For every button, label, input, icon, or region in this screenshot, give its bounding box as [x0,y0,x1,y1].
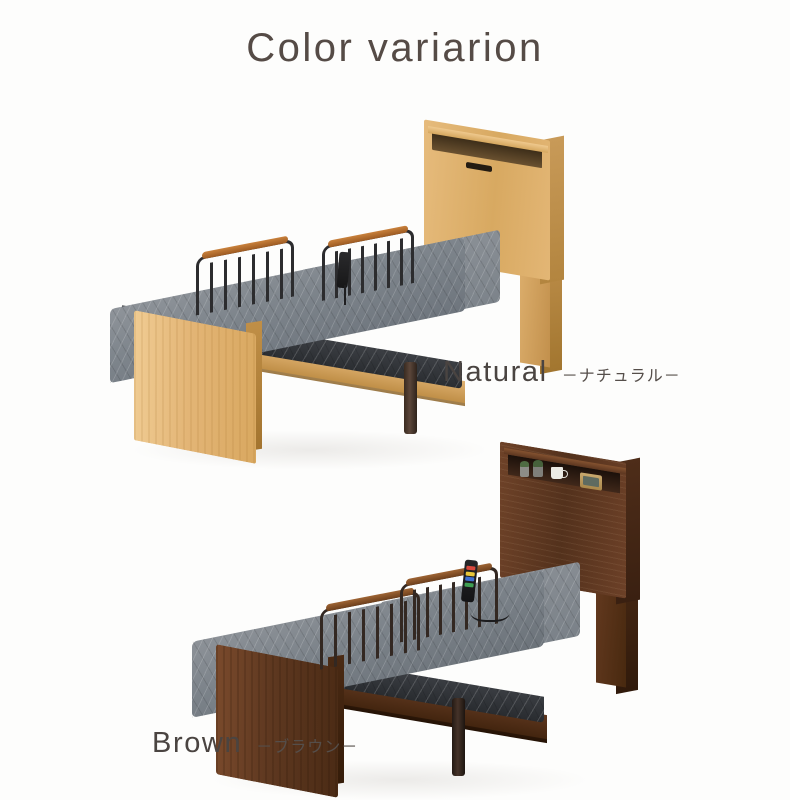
caption-natural: Natural －ナチュラル－ [443,356,681,389]
plant-icon [533,466,543,477]
remote-cord [344,285,346,305]
remote-button-blue [465,577,474,582]
variation-name-en: Natural [443,356,548,389]
plant-icon [520,466,529,477]
center-support-leg [452,698,465,776]
plant-icon-leaves [520,461,529,467]
remote-buttons [464,566,476,593]
page-title-wrap: Color variarion [0,26,790,71]
bed-image-natural [0,100,790,400]
variation-name-en: Brown [152,727,242,760]
center-support-leg [404,362,417,434]
page-title: Color variarion [246,26,544,70]
caption-brown: Brown －ブラウン－ [152,727,358,760]
color-variation-page: Color variarion [0,0,790,790]
remote-button-yellow [466,571,475,576]
remote-button-red [466,566,475,571]
variation-name-jp: －ブラウン－ [256,733,358,757]
variation-section-brown [0,430,790,730]
bed-image-brown [0,430,790,730]
plant-icon-leaves [533,460,543,467]
variation-section-natural [0,100,790,400]
variation-name-jp: －ナチュラル－ [562,362,681,386]
remote-button-green [464,582,473,587]
remote-cord [470,598,510,622]
